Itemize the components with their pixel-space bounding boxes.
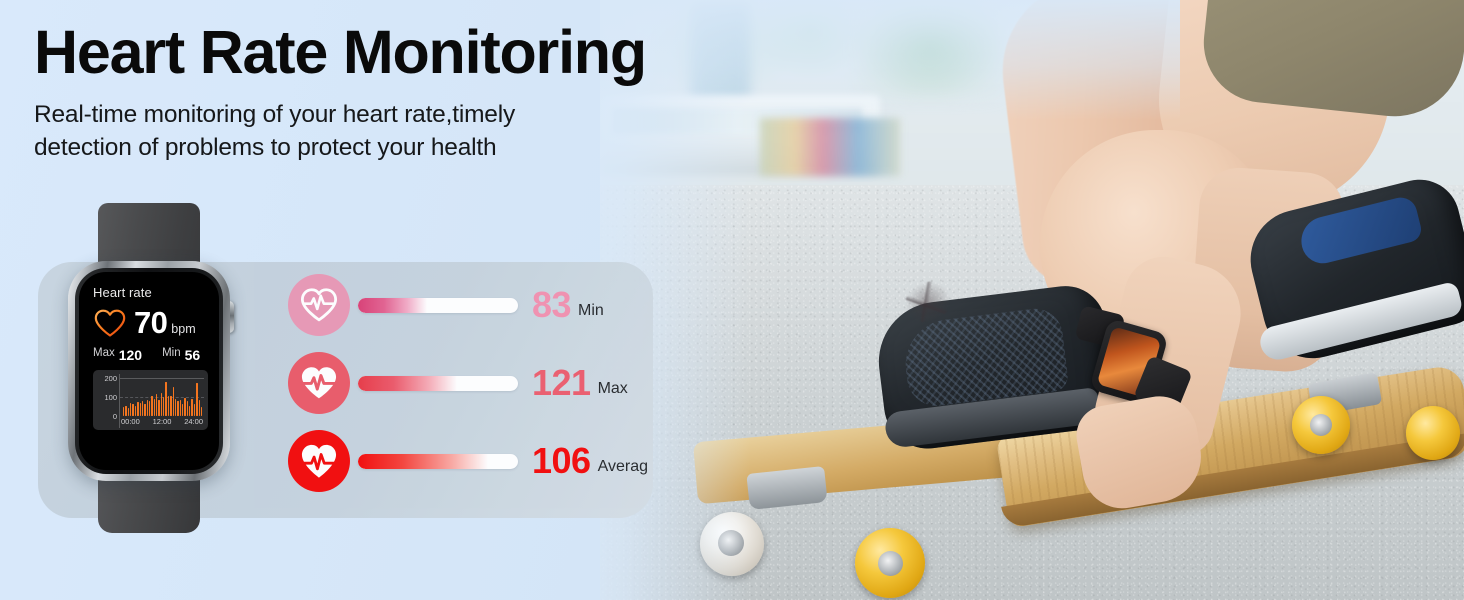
chart-x-tick-12: 12:00 bbox=[153, 417, 172, 428]
watch-max-value: 120 bbox=[119, 347, 142, 363]
photo-poster bbox=[760, 118, 900, 176]
min-progress-fill bbox=[358, 298, 427, 313]
chart-bar bbox=[147, 400, 148, 416]
page-subtitle: Real-time monitoring of your heart rate,… bbox=[34, 98, 754, 165]
average-value: 106 bbox=[532, 443, 591, 479]
heart-pulse-solid-glyph bbox=[298, 362, 340, 404]
chart-bar bbox=[180, 400, 181, 416]
chart-bar bbox=[201, 407, 202, 416]
chart-bar bbox=[163, 397, 164, 416]
chart-y-tick-100: 100 bbox=[104, 393, 117, 402]
heart-pulse-arrow-glyph bbox=[298, 440, 340, 482]
max-label: Max bbox=[598, 380, 628, 398]
chart-bar bbox=[154, 399, 155, 416]
page-title: Heart Rate Monitoring bbox=[34, 20, 754, 84]
average-label: Averag bbox=[598, 458, 648, 476]
chart-bar bbox=[177, 401, 178, 416]
average-progress-track bbox=[358, 454, 518, 469]
watch-minmax-row: Max 120 Min 56 bbox=[93, 347, 208, 363]
chart-bar bbox=[196, 383, 197, 416]
watch-bezel: Heart rate 70 bbox=[75, 268, 223, 474]
chart-bar bbox=[130, 403, 131, 416]
chart-bar bbox=[142, 401, 143, 416]
chart-bar bbox=[199, 400, 200, 416]
watch-min-value: 56 bbox=[185, 347, 201, 363]
chart-bar bbox=[182, 404, 183, 416]
chart-x-tick-24: 24:00 bbox=[184, 417, 203, 428]
chart-bar bbox=[149, 401, 150, 416]
watch-max-label: Max bbox=[93, 347, 115, 363]
heart-pulse-arrow-icon bbox=[288, 430, 350, 492]
page-subtitle-line-2: detection of problems to protect your he… bbox=[34, 131, 754, 164]
max-value: 121 bbox=[532, 365, 591, 401]
chart-bar bbox=[173, 387, 174, 416]
chart-bar bbox=[161, 393, 162, 416]
page-subtitle-line-1: Real-time monitoring of your heart rate,… bbox=[34, 98, 754, 131]
chart-bar bbox=[187, 401, 188, 416]
chart-bar bbox=[165, 382, 166, 416]
heart-outline-icon bbox=[93, 308, 127, 338]
watch-screen-title: Heart rate bbox=[93, 285, 208, 300]
skateboard-wheel-rear-core bbox=[1310, 414, 1332, 436]
watch-min-label: Min bbox=[162, 347, 181, 363]
average-progress-fill bbox=[358, 454, 488, 469]
heart-pulse-outline-glyph bbox=[298, 284, 340, 326]
chart-bar bbox=[128, 408, 129, 416]
skateboard-wheel-middle-core bbox=[878, 551, 903, 576]
min-value: 83 bbox=[532, 287, 571, 323]
chart-bar bbox=[132, 404, 133, 416]
chart-bar bbox=[144, 404, 145, 416]
chart-bar bbox=[135, 406, 136, 416]
watch-bpm-unit: bpm bbox=[171, 322, 195, 336]
chart-bar bbox=[189, 406, 190, 416]
chart-bar bbox=[168, 396, 169, 416]
max-progress-fill bbox=[358, 376, 457, 391]
chart-bar bbox=[125, 406, 126, 416]
heart-pulse-solid-icon bbox=[288, 352, 350, 414]
heart-rate-chart[interactable]: 200 100 0 00:00 12:00 24:00 bbox=[93, 370, 208, 430]
chart-bar bbox=[156, 394, 157, 416]
watch-bpm-value: 70 bbox=[134, 307, 167, 338]
chart-bar bbox=[194, 404, 195, 416]
chart-plot-area: 00:00 12:00 24:00 bbox=[119, 374, 204, 428]
chart-bar bbox=[123, 407, 124, 416]
skateboard-wheel-far bbox=[1406, 406, 1460, 460]
chart-bar bbox=[184, 398, 185, 416]
smartwatch-product: Heart rate 70 bbox=[60, 203, 260, 533]
watch-screen[interactable]: Heart rate 70 bbox=[79, 272, 219, 470]
chart-bar bbox=[175, 399, 176, 416]
min-label: Min bbox=[578, 302, 604, 320]
chart-bar bbox=[140, 403, 141, 416]
minmax-spacer bbox=[142, 347, 162, 363]
chart-x-tick-0: 00:00 bbox=[121, 417, 140, 428]
watch-bpm-row: 70 bpm bbox=[93, 307, 208, 338]
chart-y-tick-200: 200 bbox=[104, 374, 117, 383]
chart-bar bbox=[170, 396, 171, 416]
chart-bar bbox=[191, 399, 192, 416]
chart-y-axis: 200 100 0 bbox=[96, 374, 119, 428]
heading-block: Heart Rate Monitoring Real-time monitori… bbox=[34, 20, 754, 165]
min-progress-track bbox=[358, 298, 518, 313]
max-progress-track bbox=[358, 376, 518, 391]
watch-case: Heart rate 70 bbox=[68, 261, 230, 481]
chart-y-tick-0: 0 bbox=[113, 412, 117, 421]
chart-bars bbox=[123, 376, 202, 416]
heart-pulse-outline-icon bbox=[288, 274, 350, 336]
chart-x-axis: 00:00 12:00 24:00 bbox=[120, 417, 204, 428]
chart-bar bbox=[151, 396, 152, 416]
chart-bar bbox=[137, 402, 138, 416]
chart-bar bbox=[158, 400, 159, 416]
promo-banner: Heart Rate Monitoring Real-time monitori… bbox=[0, 0, 1464, 600]
